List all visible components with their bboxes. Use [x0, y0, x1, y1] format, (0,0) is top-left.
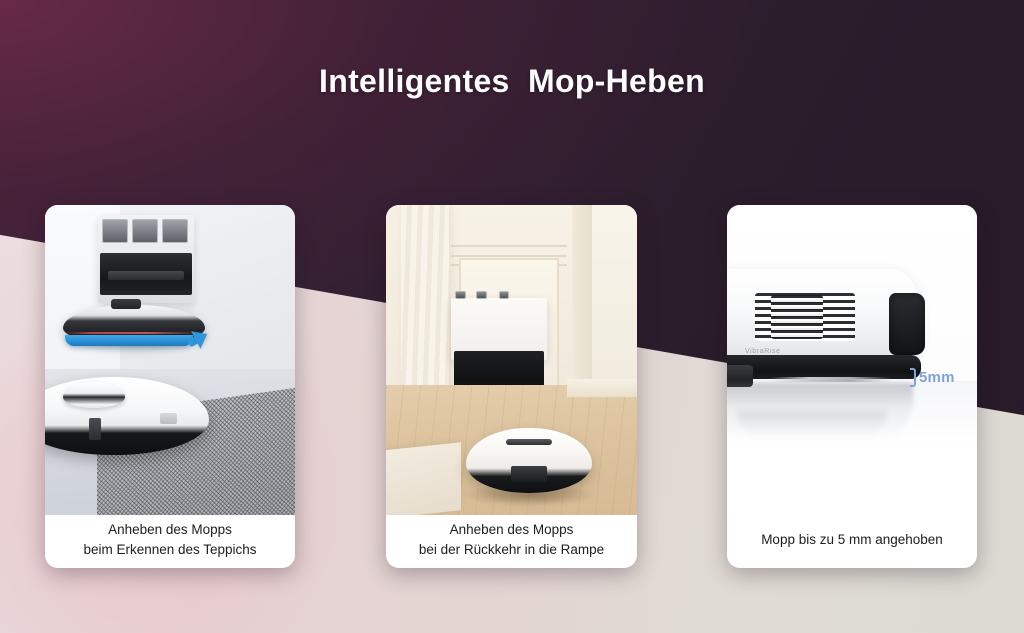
baseboard	[567, 379, 637, 398]
feature-card-carpet-detection[interactable]: Anheben des Mopps beim Erkennen des Tepp…	[45, 205, 295, 568]
lift-height-callout: 5mm	[910, 368, 955, 387]
lidar-turret-icon	[63, 382, 125, 408]
robot-sensor-window	[160, 413, 177, 424]
card-3-photo: VibraRise 5mm	[727, 205, 977, 515]
robot-accent-stripe	[65, 332, 203, 334]
dock-bin-icon	[162, 219, 188, 243]
card-2-photo	[386, 205, 637, 515]
dock-bin-icon	[476, 291, 486, 299]
card-1-caption: Anheben des Mopps beim Erkennen des Tepp…	[45, 515, 295, 568]
robot-sensor-module	[889, 293, 925, 355]
wall-molding	[451, 255, 566, 257]
measurement-bracket-icon	[910, 368, 916, 387]
dock-bin-icon	[132, 219, 158, 243]
robot-vent-grille-secondary	[771, 295, 823, 339]
surface-reflection-soft	[737, 411, 887, 437]
dock-bin-icon	[102, 219, 128, 243]
page-title: Intelligentes Mop-Heben	[0, 63, 1024, 100]
card-3-caption: Mopp bis zu 5 mm angehoben	[727, 515, 977, 568]
mop-pad-blue	[65, 335, 193, 346]
ramp	[386, 442, 461, 515]
dock-opening	[100, 253, 192, 295]
feature-card-ramp-return[interactable]: Anheben des Mopps bei der Rückkehr in di…	[386, 205, 637, 568]
wall-molding	[451, 245, 566, 247]
mop-pad-edge	[769, 377, 891, 382]
measurement-value: 5mm	[919, 369, 955, 386]
brand-label: VibraRise	[745, 348, 781, 355]
feature-card-lift-height[interactable]: VibraRise 5mm Mopp bis zu 5 mm angehoben	[727, 205, 977, 568]
card-2-caption: Anheben des Mopps bei der Rückkehr in di…	[386, 515, 637, 568]
dock-bin-icon	[499, 291, 509, 299]
robot-underbody	[727, 355, 921, 379]
dock-bin-icon	[455, 291, 465, 299]
card-1-photo	[45, 205, 295, 515]
robot-vacuum	[466, 428, 592, 493]
robot-side-button	[89, 418, 101, 440]
